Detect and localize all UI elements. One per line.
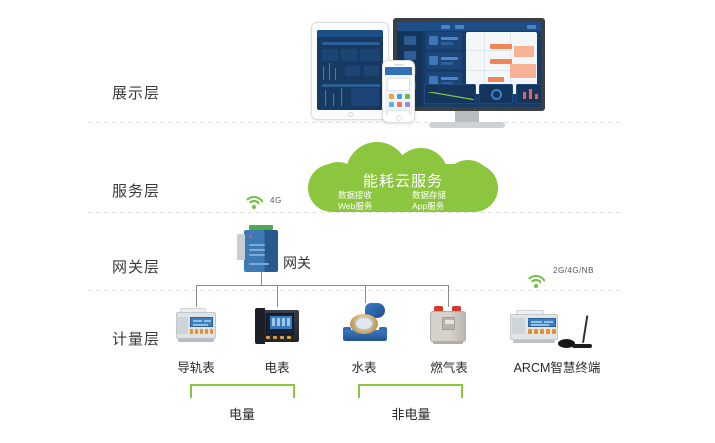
terminal-button <box>528 329 532 334</box>
lcd-digit <box>287 318 290 326</box>
monitor-stat-card <box>426 32 462 49</box>
rail-meter-caption: 导轨表 <box>166 357 226 376</box>
tablet-chart-line <box>329 63 330 80</box>
layer-label-metering: 计量层 <box>112 328 160 349</box>
electric-group-bracket-top <box>190 384 295 386</box>
cloud-service-item: 数据接收 <box>338 190 372 201</box>
terminal-lcd <box>528 318 556 327</box>
layer-label-service: 服务层 <box>112 180 160 201</box>
meter-lcd <box>270 316 292 329</box>
lcd-segment <box>193 324 208 326</box>
lcd-digit <box>277 318 280 326</box>
lcd-segment <box>204 320 211 322</box>
tablet-header-bar <box>317 30 383 37</box>
non-electric-group-bracket-top <box>358 384 463 386</box>
gas-meter-device <box>428 306 468 344</box>
phone-app-icon <box>397 94 402 99</box>
map-label-tag <box>490 59 512 64</box>
meter-face <box>266 313 294 335</box>
meter-button <box>210 329 213 334</box>
map-region <box>510 64 536 78</box>
tablet-cell <box>341 49 357 61</box>
electric-group-label: 电量 <box>212 404 272 423</box>
monitor-stat-card <box>426 52 462 69</box>
wifi-icon <box>525 275 547 289</box>
gateway-face-line <box>249 249 265 251</box>
water-meter-glass <box>355 317 373 330</box>
phone-app-icon <box>405 94 410 99</box>
meter-button <box>287 336 291 339</box>
tablet-home-button <box>348 112 353 117</box>
tablet-cell <box>351 88 379 106</box>
meter-button <box>266 336 270 339</box>
monitor-topbar-item <box>455 25 464 29</box>
tablet-chart-line <box>325 90 326 106</box>
tablet-cell <box>364 66 379 76</box>
lcd-segment <box>193 320 202 322</box>
monitor-sidebar-item <box>404 51 416 60</box>
non-electric-group-bracket-right <box>461 384 463 398</box>
cloud-service-shape: 能耗云服务 数据接收 Web服务 数据存储 App服务 <box>308 142 498 214</box>
map-label-tag <box>488 77 504 82</box>
electric-meter-caption: 电表 <box>248 357 306 376</box>
phone-speaker <box>394 64 404 66</box>
tablet-device <box>311 22 389 120</box>
terminal-button <box>540 329 544 334</box>
tablet-chart-line <box>341 88 342 106</box>
phone-app-icon <box>397 102 402 107</box>
wifi-icon <box>243 196 265 210</box>
map-region <box>514 46 534 57</box>
card-icon <box>429 56 438 65</box>
meter-button <box>280 336 284 339</box>
gas-meter-caption: 燃气表 <box>419 357 479 376</box>
monitor-bottom-panels <box>424 84 537 104</box>
electric-meter-device <box>255 308 299 344</box>
meter-bezel <box>255 308 265 344</box>
tablet-cell <box>360 49 380 61</box>
divider-gateway-metering <box>88 290 623 291</box>
electric-group-bracket-left <box>190 384 192 398</box>
smartphone-device <box>382 60 415 123</box>
meter-bus-line <box>196 285 449 286</box>
meter-button <box>190 329 193 334</box>
map-label-tag <box>490 44 512 49</box>
bar <box>523 92 526 99</box>
gateway-status-led <box>249 235 252 238</box>
monitor-bar-panel <box>516 84 545 104</box>
monitor-top-bar <box>397 22 541 31</box>
monitor-topbar-item <box>527 25 536 29</box>
gateway-face-line <box>249 244 265 246</box>
meter-button <box>273 336 277 339</box>
gauge-ring <box>491 89 502 100</box>
gas-meter-foot <box>433 341 463 344</box>
monitor-base <box>429 122 505 128</box>
cloud-service-item: Web服务 <box>338 201 372 212</box>
meter-terminals <box>178 338 214 342</box>
sparkline <box>428 92 474 100</box>
meter-buttons <box>190 329 213 334</box>
cloud-right-services: 数据存储 App服务 <box>412 190 446 212</box>
cloud-service-item: App服务 <box>412 201 446 212</box>
terminal-button <box>534 329 538 334</box>
meter-button <box>200 329 203 334</box>
lcd-digit <box>272 318 275 326</box>
non-electric-group-label: 非电量 <box>378 404 444 423</box>
card-title <box>441 77 458 80</box>
antenna-mount-plate <box>572 344 592 348</box>
terminal-side-panel <box>512 318 525 334</box>
meter-drop-line <box>448 285 449 307</box>
card-title <box>441 57 458 60</box>
lcd-segment <box>531 324 549 326</box>
antenna-icon <box>556 315 596 349</box>
tablet-cell <box>345 66 360 76</box>
meter-drop-line <box>365 285 366 303</box>
meter-buttons <box>266 336 294 340</box>
card-value <box>441 62 453 65</box>
monitor-gauge-panel <box>479 84 513 104</box>
gas-meter-register <box>442 317 455 330</box>
terminal-uplink-label: 2G/4G/NB <box>553 266 594 275</box>
tablet-chart-line <box>333 94 334 106</box>
gateway-face-line <box>249 263 269 265</box>
gateway-drop-line <box>261 272 262 286</box>
gateway-name: 网关 <box>283 253 311 273</box>
gateway-uplink-label: 4G <box>270 196 282 205</box>
tablet-chart-line <box>323 66 324 80</box>
meter-lcd <box>190 317 213 327</box>
water-meter-device <box>343 303 387 343</box>
monitor-topbar-item <box>441 25 450 29</box>
electric-group-bracket-right <box>293 384 295 398</box>
bar <box>529 89 532 99</box>
card-value <box>441 42 453 45</box>
phone-app-icon <box>389 94 394 99</box>
phone-app-icon <box>405 102 410 107</box>
meter-button <box>195 329 198 334</box>
cloud-title: 能耗云服务 <box>308 170 498 191</box>
tablet-screen <box>317 30 383 110</box>
cloud-service-item: 数据存储 <box>412 190 446 201</box>
card-icon <box>429 36 438 45</box>
cloud-left-services: 数据接收 Web服务 <box>338 190 372 212</box>
lcd-segment <box>544 321 553 323</box>
arcm-terminal-caption: ARCM智慧终端 <box>502 357 612 376</box>
tablet-chart-line <box>335 68 336 80</box>
rail-meter-device <box>173 308 219 342</box>
desktop-monitor-device <box>393 18 553 128</box>
monitor-sidebar-item <box>404 36 416 45</box>
register-window <box>445 320 454 324</box>
monitor-card-column <box>424 32 464 83</box>
gateway-device <box>244 230 278 272</box>
phone-app-icon <box>389 102 394 107</box>
tablet-cell <box>322 49 338 61</box>
meter-drop-line <box>277 285 278 307</box>
phone-card <box>387 78 410 91</box>
lcd-digit <box>282 318 285 326</box>
meter-drop-line <box>196 285 197 307</box>
layer-label-display: 展示层 <box>112 82 160 103</box>
meter-button <box>205 329 208 334</box>
phone-header-bar <box>385 67 412 75</box>
monitor-screen <box>393 18 545 111</box>
terminal-terminals <box>513 340 555 343</box>
meter-side-panel <box>177 317 188 334</box>
non-electric-group-bracket-left <box>358 384 360 398</box>
bar <box>535 94 538 99</box>
terminal-buttons <box>528 329 556 334</box>
layer-label-gateway: 网关层 <box>112 256 160 277</box>
lcd-segment <box>531 321 542 323</box>
water-meter-caption: 水表 <box>336 357 392 376</box>
monitor-chart-panel <box>424 84 476 104</box>
tablet-row <box>322 84 380 87</box>
antenna-rod <box>582 315 588 343</box>
gateway-face-line <box>249 254 265 256</box>
card-title <box>441 37 458 40</box>
diagram-canvas: 展示层 服务层 网关层 计量层 <box>0 0 715 443</box>
tablet-row <box>322 42 380 45</box>
terminal-button <box>546 329 550 334</box>
phone-screen <box>385 67 412 115</box>
gateway-connector-plate <box>237 234 245 260</box>
phone-home-button <box>396 115 402 121</box>
